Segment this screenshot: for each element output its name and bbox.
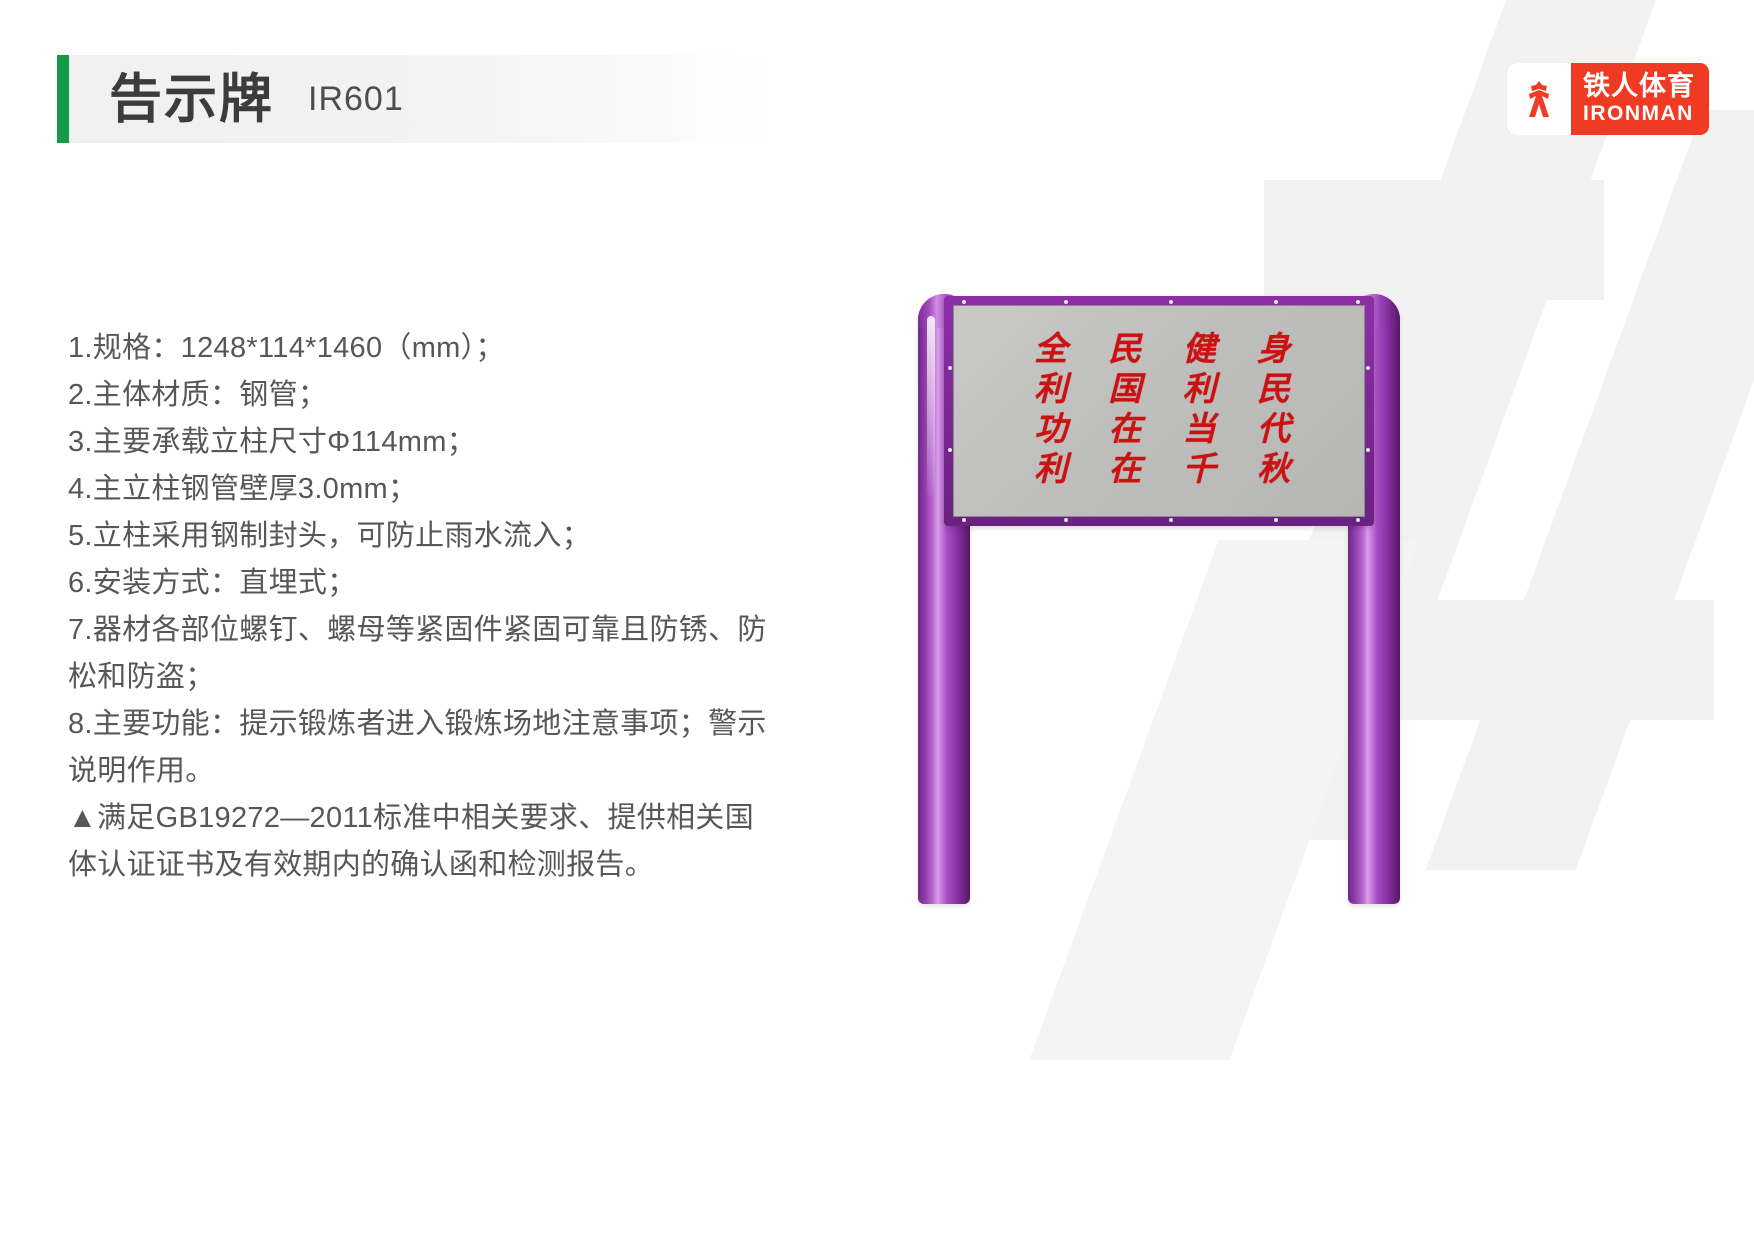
frame-screw — [948, 448, 952, 452]
calligraphy-column: 民国在在 — [1104, 331, 1140, 491]
sign-board-frame: 全利功利 民国在在 健利当千 身民代秋 — [944, 296, 1374, 526]
frame-screw — [1064, 300, 1068, 304]
frame-screw — [1169, 300, 1173, 304]
frame-screw — [1064, 518, 1068, 522]
spec-line: 2.主体材质：钢管； — [68, 372, 768, 419]
calligraphy-column: 身民代秋 — [1252, 331, 1288, 491]
spec-line: 8.主要功能：提示锻炼者进入锻炼场地注意事项；警示说明作用。 — [68, 701, 768, 795]
calligraphy-text: 全利功利 民国在在 健利当千 身民代秋 — [954, 306, 1364, 516]
frame-screw — [948, 366, 952, 370]
spec-line: 6.安装方式：直埋式； — [68, 560, 768, 607]
spec-line: 1.规格：1248*114*1460（mm）； — [68, 325, 768, 372]
brand-logo: 铁人体育 IRONMAN — [1507, 63, 1709, 135]
calligraphy-column: 全利功利 — [1029, 331, 1065, 491]
frame-screw — [962, 518, 966, 522]
calligraphy-column: 健利当千 — [1178, 331, 1214, 491]
brand-name-cn: 铁人体育 — [1583, 73, 1695, 101]
ironman-figure-icon — [1507, 63, 1571, 135]
frame-screw — [1356, 300, 1360, 304]
decor-chevron-3 — [1394, 600, 1714, 720]
frame-screw — [1356, 518, 1360, 522]
spec-line: 3.主要承载立柱尺寸Φ114mm； — [68, 419, 768, 466]
spec-line: 7.器材各部位螺钉、螺母等紧固件紧固可靠且防锈、防松和防盗； — [68, 607, 768, 701]
frame-screw — [962, 300, 966, 304]
spec-line: 5.立柱采用钢制封头，可防止雨水流入； — [68, 513, 768, 560]
post-highlight-left — [927, 316, 935, 496]
sign-board-panel: 全利功利 民国在在 健利当千 身民代秋 — [953, 305, 1365, 517]
page-title: 告示牌 — [109, 73, 274, 126]
decor-chevron-2 — [1426, 110, 1754, 870]
brand-logo-text: 铁人体育 IRONMAN — [1571, 63, 1709, 135]
specification-list: 1.规格：1248*114*1460（mm）； 2.主体材质：钢管； 3.主要承… — [68, 325, 768, 889]
product-illustration: 全利功利 民国在在 健利当千 身民代秋 — [900, 280, 1420, 920]
frame-screw — [1274, 518, 1278, 522]
frame-screw — [1169, 518, 1173, 522]
header-accent-bar — [57, 55, 69, 143]
brand-name-en: IRONMAN — [1583, 103, 1695, 125]
frame-screw — [1274, 300, 1278, 304]
frame-screw — [1366, 448, 1370, 452]
spec-line: 4.主立柱钢管壁厚3.0mm； — [68, 466, 768, 513]
page-header: 告示牌 IR601 — [57, 55, 770, 143]
frame-screw — [1366, 366, 1370, 370]
model-number: IR601 — [308, 82, 404, 116]
spec-line: ▲满足GB19272—2011标准中相关要求、提供相关国体认证证书及有效期内的确… — [68, 795, 768, 889]
